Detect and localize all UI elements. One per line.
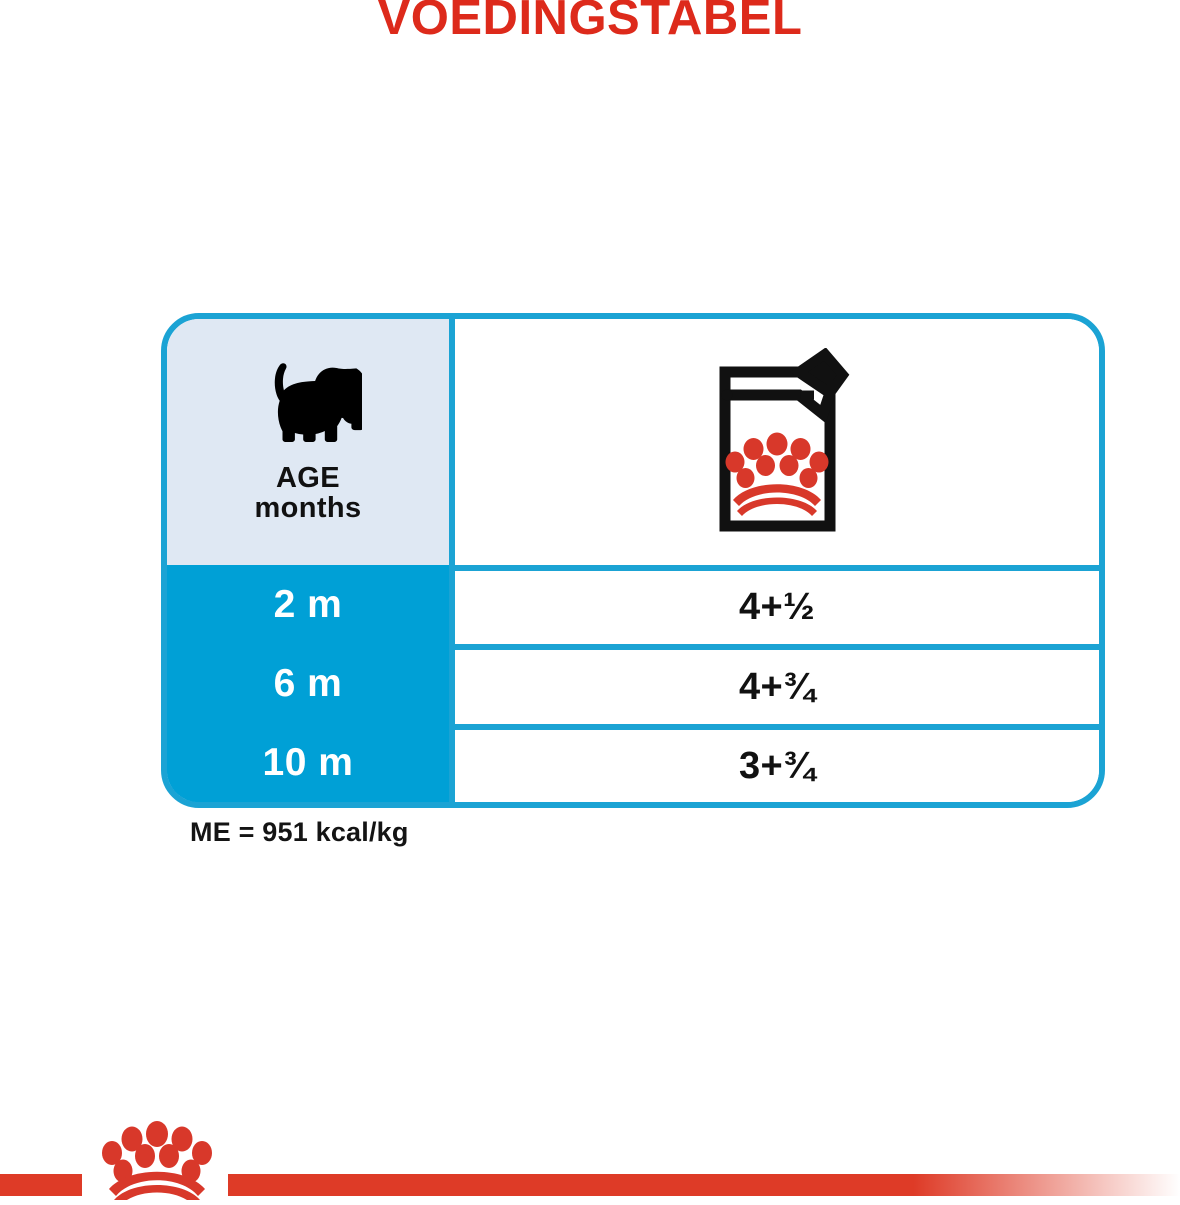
brand-bar-right <box>228 1174 1180 1196</box>
page-title: VOEDINGSTABEL <box>0 0 1180 43</box>
metabolisable-energy-note: ME = 951 kcal/kg <box>190 817 409 848</box>
age-value-overlay: 2 m <box>274 583 343 627</box>
age-value-overlay: 10 m <box>263 741 354 785</box>
feeding-table: AGE months <box>161 313 1105 808</box>
age-value-overlay: 6 m <box>274 662 343 706</box>
brand-band <box>0 1162 1180 1200</box>
royal-canin-crown-icon <box>84 1118 230 1200</box>
brand-bar-left <box>0 1174 82 1196</box>
